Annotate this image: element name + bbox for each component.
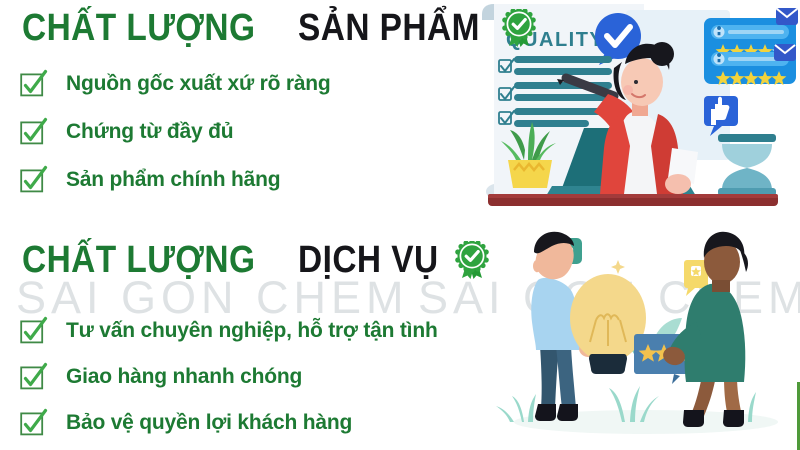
quality-seal-icon [455, 241, 489, 279]
checkbox-checked-icon [20, 71, 46, 97]
checkbox-checked-icon [20, 364, 46, 390]
list-item-label: Bảo vệ quyền lợi khách hàng [66, 411, 352, 435]
review-cards [704, 8, 798, 85]
checkbox-checked-icon [20, 318, 46, 344]
list-item: Sản phẩm chính hãng [20, 156, 331, 204]
section-heading-service-quality: CHẤT LƯỢNG DỊCH VỤ [22, 240, 489, 280]
list-item: Chứng từ đầy đủ [20, 108, 331, 156]
service-handshake-illustration: ? [486, 226, 800, 450]
list-item: Nguồn gốc xuất xứ rõ ràng [20, 60, 331, 108]
envelope-icon [774, 44, 796, 61]
heading-green-part: CHẤT LƯỢNG [22, 8, 255, 48]
heading-black-part: DỊCH VỤ [298, 240, 439, 280]
list-item-label: Tư vấn chuyên nghiệp, hỗ trợ tận tình [66, 319, 438, 343]
service-quality-list: Tư vấn chuyên nghiệp, hỗ trợ tận tình Gi… [20, 308, 438, 446]
list-item: Giao hàng nhanh chóng [20, 354, 438, 400]
list-item-label: Chứng từ đầy đủ [66, 120, 233, 144]
product-quality-list: Nguồn gốc xuất xứ rõ ràng Chứng từ đầy đ… [20, 60, 331, 204]
checkbox-checked-icon [20, 119, 46, 145]
checkbox-checked-icon [20, 410, 46, 436]
infographic-canvas: SAI GON CHEM SAI GON CHEM CHẤT LƯỢNG SẢN… [0, 0, 800, 450]
list-item-label: Nguồn gốc xuất xứ rõ ràng [66, 72, 331, 96]
checkbox-checked-icon [20, 167, 46, 193]
list-item: Tư vấn chuyên nghiệp, hỗ trợ tận tình [20, 308, 438, 354]
list-item-label: Sản phẩm chính hãng [66, 168, 280, 192]
quality-seal-icon [502, 9, 536, 47]
list-item: Bảo vệ quyền lợi khách hàng [20, 400, 438, 446]
envelope-icon [776, 8, 798, 25]
heading-green-part: CHẤT LƯỢNG [22, 240, 255, 280]
list-item-label: Giao hàng nhanh chóng [66, 365, 302, 389]
section-heading-product-quality: CHẤT LƯỢNG SẢN PHẨM [22, 8, 536, 48]
heading-black-part: SẢN PHẨM [298, 8, 480, 48]
